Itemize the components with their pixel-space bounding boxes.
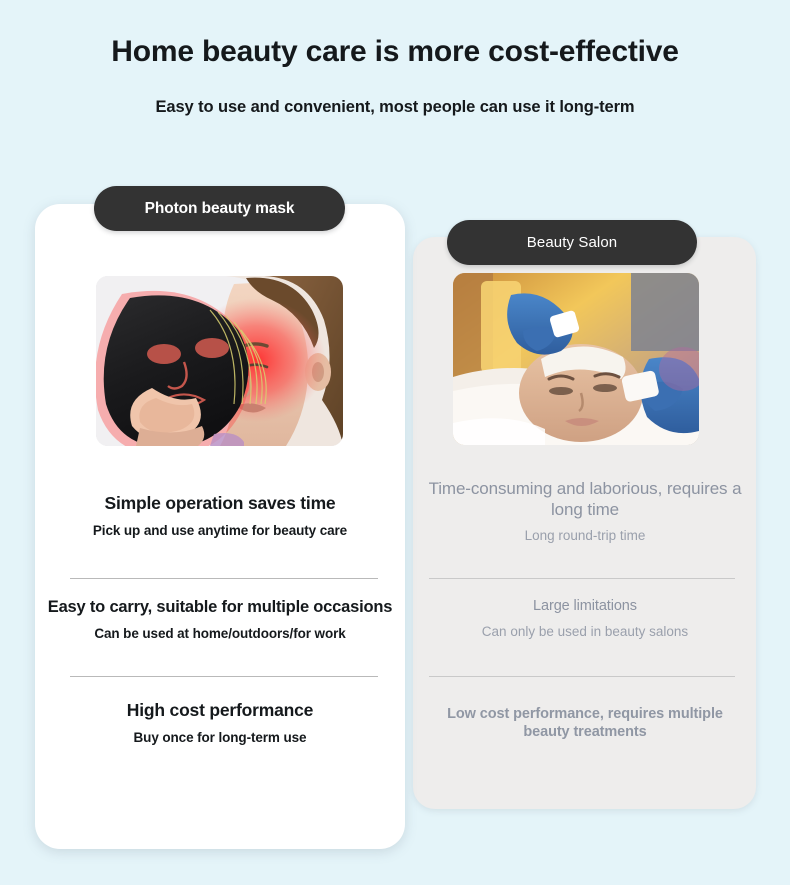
feature-mask-3-sub: Buy once for long-term use (45, 721, 395, 747)
divider-mask-2 (70, 676, 378, 677)
badge-beauty-salon: Beauty Salon (447, 220, 697, 265)
badge-beauty-salon-label: Beauty Salon (527, 234, 617, 251)
feature-salon-2-heading: Large limitations (425, 598, 745, 616)
beauty-salon-photo (453, 273, 699, 445)
feature-mask-1-heading: Simple operation saves time (45, 493, 395, 514)
feature-mask-1-sub: Pick up and use anytime for beauty care (45, 514, 395, 540)
feature-mask-2-heading: Easy to carry, suitable for multiple occ… (38, 597, 402, 617)
divider-salon-2 (429, 676, 735, 677)
badge-photon-beauty-mask: Photon beauty mask (94, 186, 345, 231)
feature-salon-3: Low cost performance, requires multiple … (430, 706, 740, 741)
feature-salon-1-heading: Time-consuming and laborious, requires a… (425, 479, 745, 520)
comparison-section: Beauty Salon (0, 0, 790, 885)
feature-mask-3-heading: High cost performance (45, 700, 395, 721)
feature-mask-3: High cost performance Buy once for long-… (45, 700, 395, 747)
divider-mask-1 (70, 578, 378, 579)
feature-salon-2-sub: Can only be used in beauty salons (425, 616, 745, 641)
feature-salon-2: Large limitations Can only be used in be… (425, 598, 745, 641)
photon-beauty-mask-photo (96, 276, 343, 446)
feature-salon-3-heading: Low cost performance, requires multiple … (430, 706, 740, 741)
feature-salon-1: Time-consuming and laborious, requires a… (425, 479, 745, 545)
feature-mask-1: Simple operation saves time Pick up and … (45, 493, 395, 540)
badge-photon-beauty-mask-label: Photon beauty mask (145, 200, 295, 218)
divider-salon-1 (429, 578, 735, 579)
feature-mask-2-sub: Can be used at home/outdoors/for work (38, 617, 402, 643)
feature-salon-1-sub: Long round-trip time (425, 520, 745, 545)
feature-mask-2: Easy to carry, suitable for multiple occ… (38, 597, 402, 643)
